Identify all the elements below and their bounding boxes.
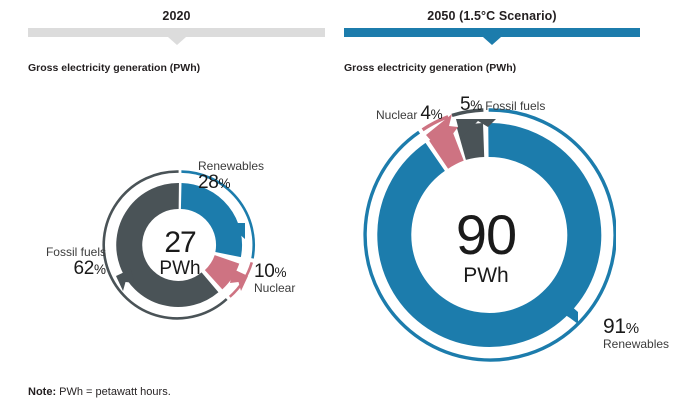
callout-renewables-value-2050: 91% — [603, 316, 669, 338]
panel-subtitle-2020: Gross electricity generation (PWh) — [28, 62, 200, 74]
panel-header-2020: 2020 — [28, 8, 325, 44]
footnote-text: PWh = petawatt hours. — [56, 386, 171, 398]
callout-fossil-value-2050: 5% — [460, 95, 482, 115]
panel-subtitle-2050: Gross electricity generation (PWh) — [344, 62, 516, 74]
banner-bar-2020 — [28, 28, 325, 37]
callout-nuclear-label-2050: Nuclear — [376, 109, 417, 122]
banner-notch-2020 — [168, 37, 186, 45]
donut-ring-2020 — [129, 196, 229, 294]
callout-nuclear-2020: 10% Nuclear — [254, 262, 295, 295]
callout-renewables-value-2020: 28% — [198, 173, 264, 193]
callout-fossil-2020: Fossil fuels 62% — [26, 246, 106, 279]
panel-header-2050: 2050 (1.5°C Scenario) — [344, 8, 640, 44]
footnote-label: Note: — [28, 386, 56, 398]
callout-nuclear-2050: Nuclear 4% — [376, 104, 443, 124]
panel-banner-2020 — [28, 28, 325, 44]
callout-fossil-2050: 5% Fossil fuels — [460, 95, 545, 115]
callout-renewables-label-2050: Renewables — [603, 338, 669, 351]
panel-title-2050: 2050 (1.5°C Scenario) — [344, 8, 640, 24]
footnote: Note: PWh = petawatt hours. — [28, 386, 171, 398]
callout-renewables-2050: 91% Renewables — [603, 316, 669, 351]
callout-fossil-label-2020: Fossil fuels — [26, 246, 106, 259]
segment-nuclear-2020 — [214, 259, 227, 279]
panel-title-2020: 2020 — [28, 8, 325, 24]
callout-nuclear-value-2050: 4% — [420, 104, 442, 124]
callout-fossil-label-2050: Fossil fuels — [485, 100, 545, 113]
callout-renewables-2020: Renewables 28% — [198, 160, 264, 193]
segment-renewables-2020 — [181, 196, 229, 255]
banner-bar-2050 — [344, 28, 640, 37]
segment-fossil-2050 — [461, 140, 483, 144]
segment-renewables-2050 — [394, 140, 584, 330]
donut-svg-2050 — [356, 105, 616, 365]
callout-fossil-value-2020: 62% — [26, 259, 106, 279]
callout-nuclear-label-2020: Nuclear — [254, 282, 295, 295]
banner-notch-2050 — [483, 37, 501, 45]
donut-ring-2050 — [394, 140, 584, 330]
panel-banner-2050 — [344, 28, 640, 44]
donut-chart-2050 — [356, 105, 616, 365]
callout-nuclear-value-2020: 10% — [254, 262, 295, 282]
infographic-root: 2020 Gross electricity generation (PWh) — [0, 0, 673, 412]
